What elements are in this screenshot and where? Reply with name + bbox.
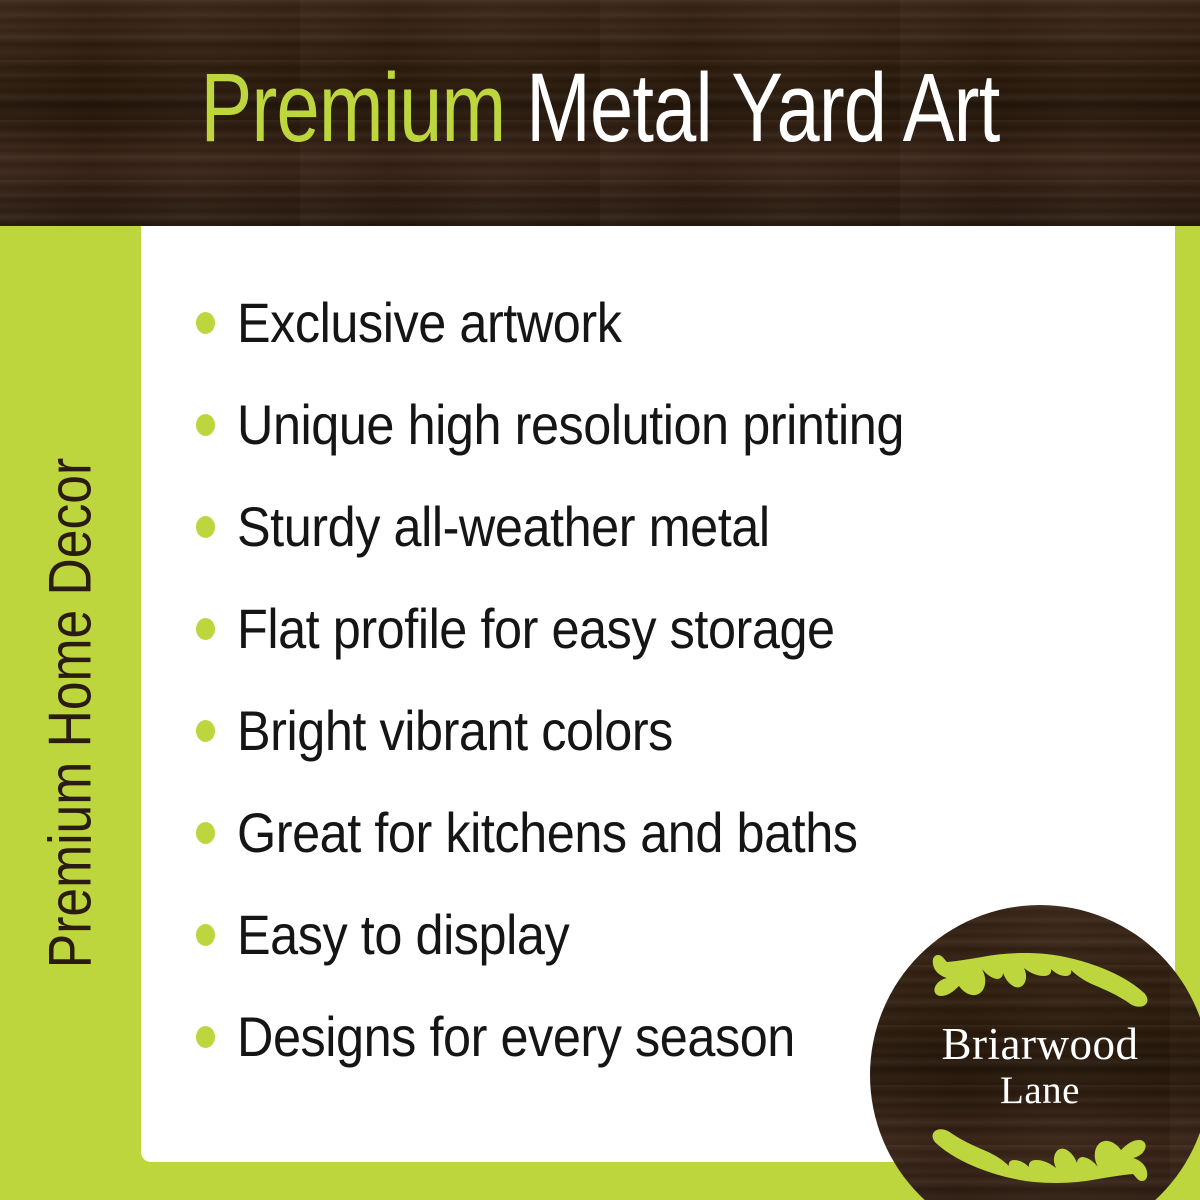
page-title-highlight: Premium	[201, 53, 506, 162]
page-title: Premium Metal Yard Art	[120, 47, 1080, 169]
brand-subname: Lane	[942, 1069, 1139, 1113]
sidebar-vertical-label: Premium Home Decor	[0, 226, 141, 1200]
feature-label: Flat profile for easy storage	[237, 598, 835, 660]
page-title-rest: Metal Yard Art	[505, 53, 999, 162]
list-item: Great for kitchens and baths	[196, 782, 1126, 884]
brand-logo-content: Briarwood Lane	[870, 905, 1200, 1200]
sidebar: Premium Home Decor	[0, 226, 141, 1200]
list-item: Sturdy all-weather metal	[196, 476, 1126, 578]
sidebar-label-text: Premium Home Decor	[41, 458, 101, 968]
feature-label: Exclusive artwork	[237, 292, 621, 354]
oak-leaf-icon-bottom	[920, 1127, 1160, 1185]
bullet-dot-icon	[196, 414, 215, 436]
feature-label: Sturdy all-weather metal	[237, 496, 770, 558]
bullet-dot-icon	[196, 822, 215, 844]
list-item: Bright vibrant colors	[196, 680, 1126, 782]
poster-canvas: Premium Metal Yard Art Premium Home Deco…	[0, 0, 1200, 1200]
bullet-dot-icon	[196, 312, 215, 334]
feature-label: Unique high resolution printing	[237, 394, 904, 456]
brand-logo-badge: Briarwood Lane	[870, 905, 1200, 1200]
oak-leaf-icon-top	[920, 951, 1160, 1009]
brand-name: Briarwood	[942, 1019, 1139, 1069]
bullet-dot-icon	[196, 618, 215, 640]
feature-label: Easy to display	[237, 904, 569, 966]
feature-label: Designs for every season	[237, 1006, 795, 1068]
feature-label: Great for kitchens and baths	[237, 802, 858, 864]
list-item: Exclusive artwork	[196, 272, 1126, 374]
list-item: Flat profile for easy storage	[196, 578, 1126, 680]
feature-label: Bright vibrant colors	[237, 700, 673, 762]
list-item: Unique high resolution printing	[196, 374, 1126, 476]
brand-wordmark: Briarwood Lane	[942, 1019, 1139, 1113]
header-banner: Premium Metal Yard Art	[0, 0, 1200, 226]
bullet-dot-icon	[196, 516, 215, 538]
bullet-dot-icon	[196, 924, 215, 946]
bullet-dot-icon	[196, 1026, 215, 1048]
bullet-dot-icon	[196, 720, 215, 742]
